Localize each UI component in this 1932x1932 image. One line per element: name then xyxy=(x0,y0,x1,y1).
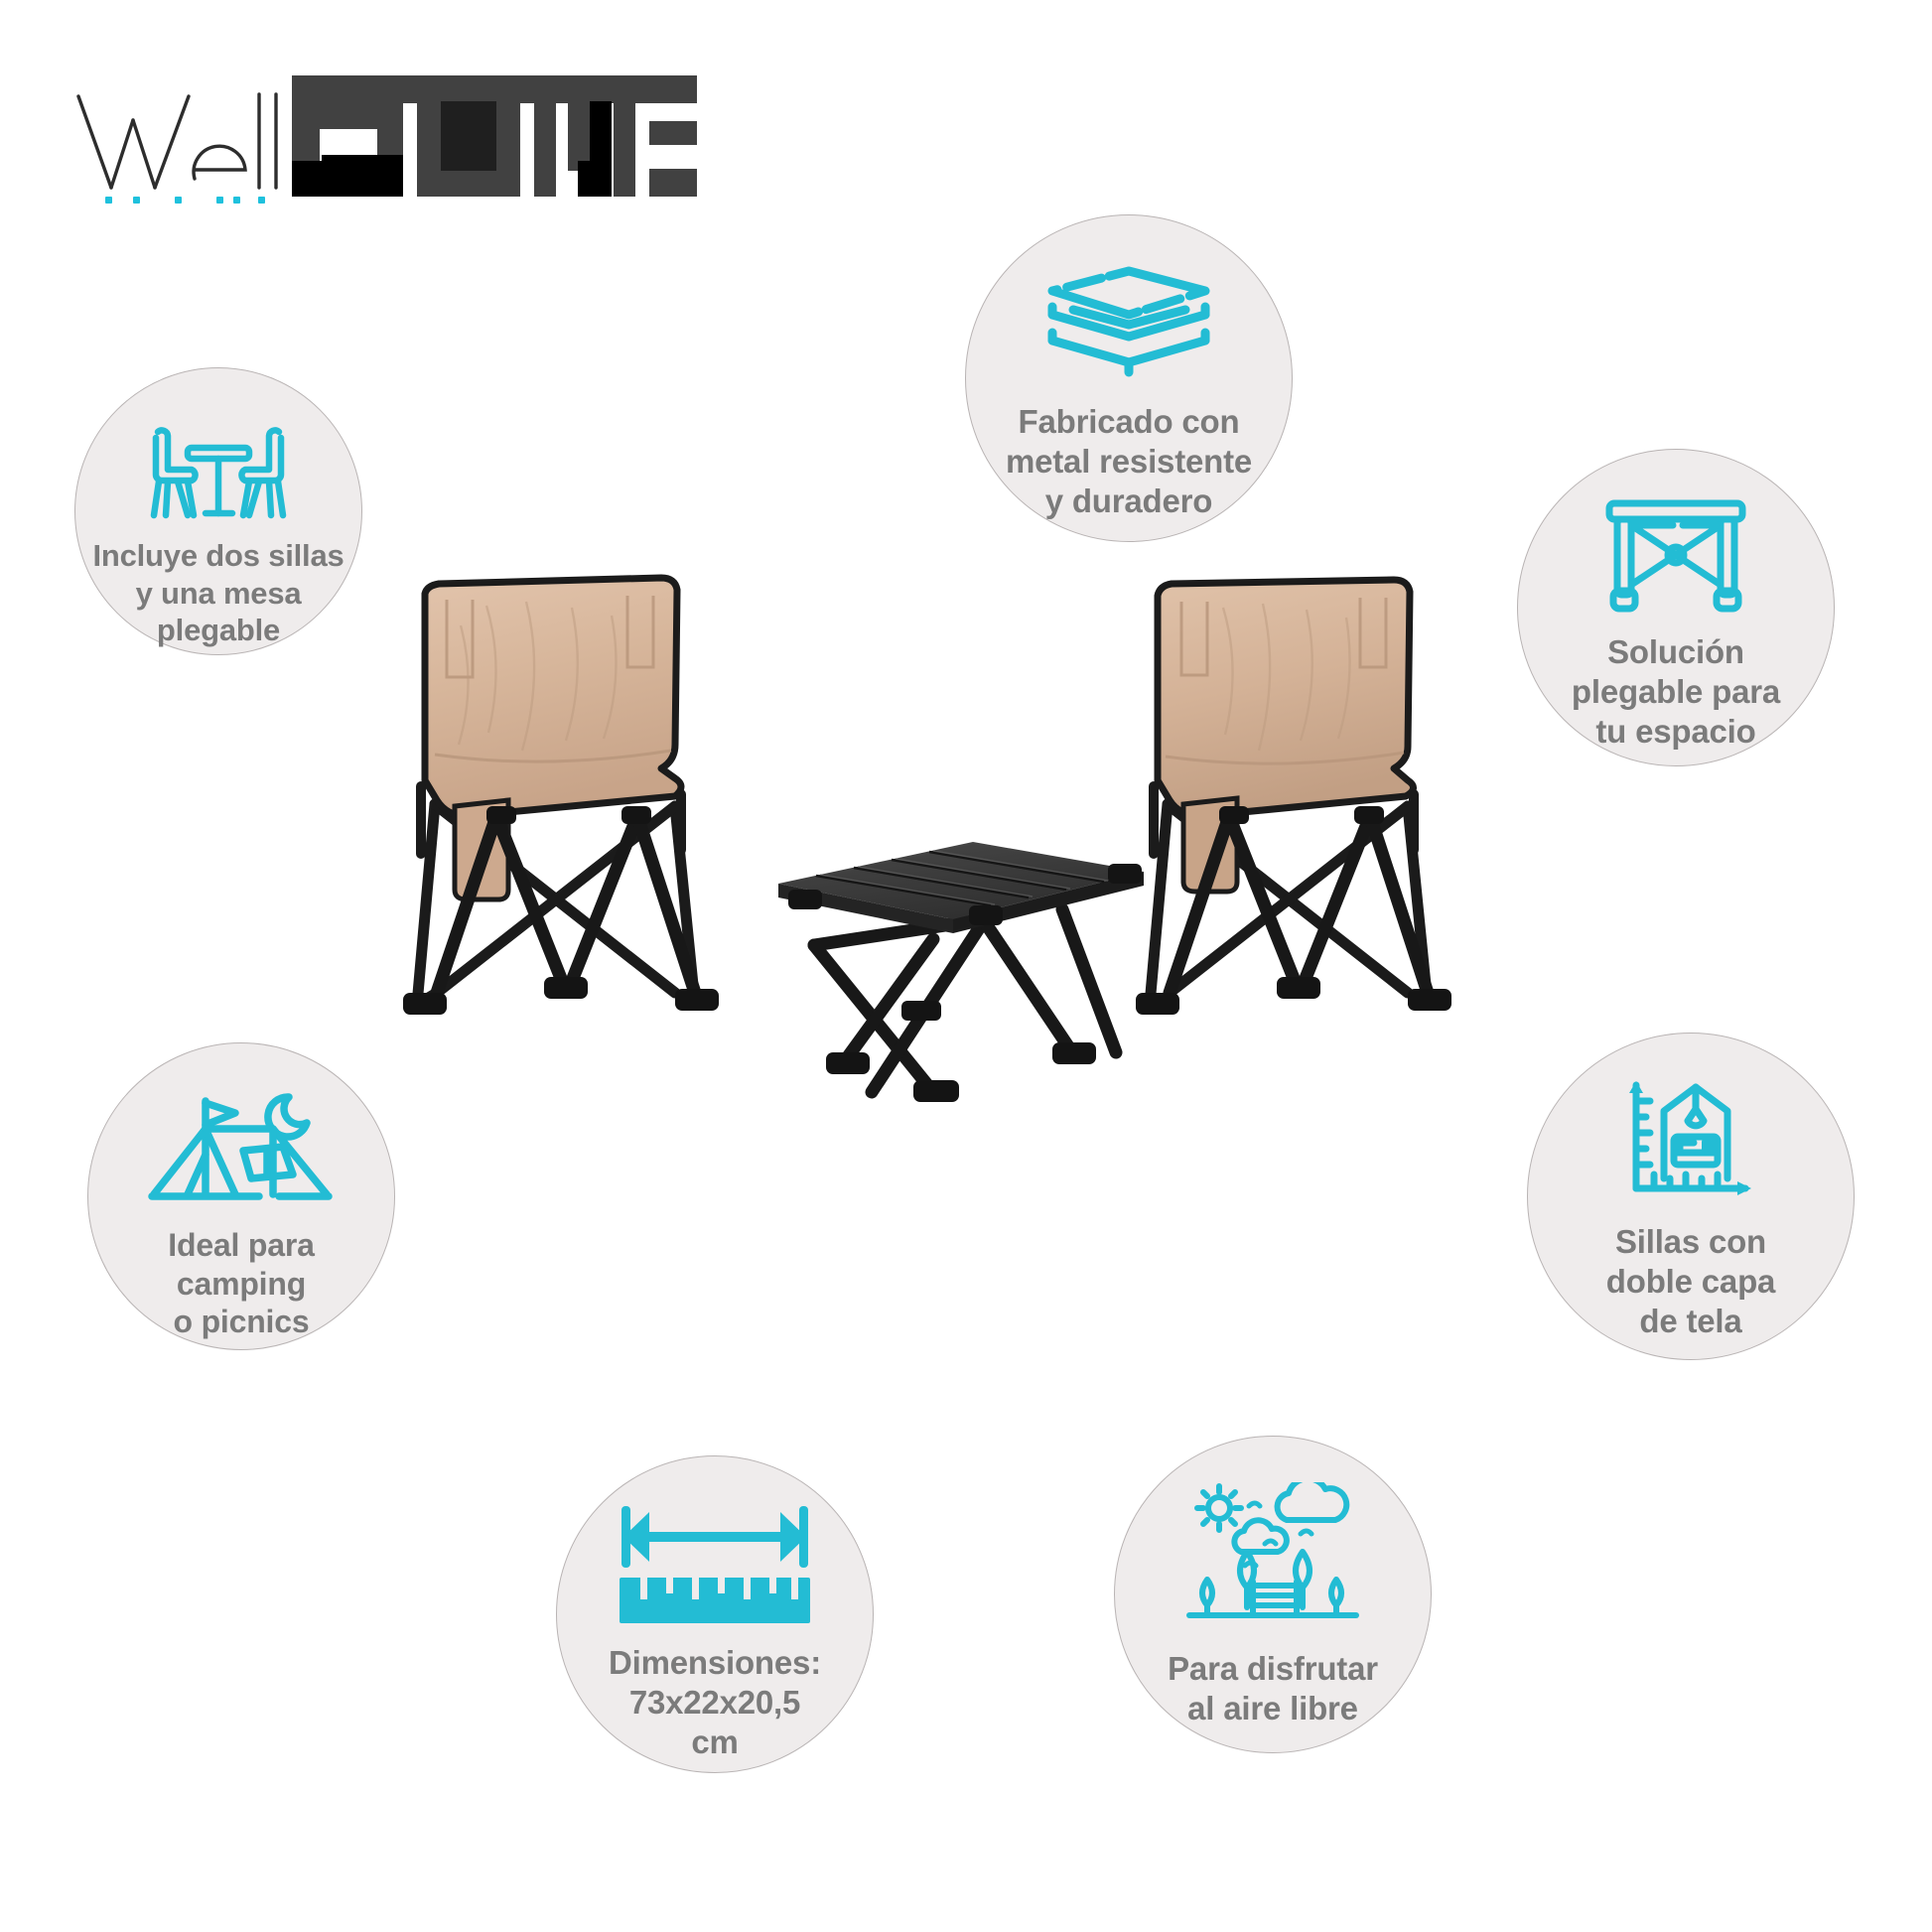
logo-well-wordmark xyxy=(78,94,276,188)
badge-ideal-camping[interactable]: Ideal para camping o picnics xyxy=(87,1042,395,1350)
layers-icon xyxy=(966,263,1292,384)
tent-moon-icon xyxy=(88,1087,394,1212)
brand-logo xyxy=(71,58,707,207)
badge-label: Para disfrutar al aire libre xyxy=(1160,1649,1386,1728)
badge-label: Dimensiones: 73x22x20,5 cm xyxy=(601,1643,829,1762)
folding-table xyxy=(778,842,1144,1102)
measure-furniture-icon xyxy=(1528,1075,1854,1200)
table-top xyxy=(778,842,1144,933)
badge-enjoy-outdoors[interactable]: Para disfrutar al aire libre xyxy=(1114,1436,1432,1753)
badge-dimensions[interactable]: Dimensiones: 73x22x20,5 cm xyxy=(556,1455,874,1773)
badge-includes-chairs-table[interactable]: Incluye dos sillas y una mesa plegable xyxy=(74,367,362,655)
chair-left xyxy=(403,578,719,1015)
product-photo xyxy=(377,556,1549,1112)
badge-durable-metal[interactable]: Fabricado con metal resistente y durader… xyxy=(965,214,1293,542)
badge-label: Ideal para camping o picnics xyxy=(160,1226,322,1341)
badge-double-layer-fabric[interactable]: Sillas con doble capa de tela xyxy=(1527,1033,1855,1360)
badge-label: Incluye dos sillas y una mesa plegable xyxy=(84,537,351,649)
logo-accent-dots xyxy=(105,197,265,204)
badge-label: Fabricado con metal resistente y durader… xyxy=(998,402,1260,521)
ruler-arrow-icon xyxy=(557,1504,873,1625)
logo-home-wordmark xyxy=(292,75,697,197)
chair-right xyxy=(1136,580,1451,1015)
badge-folding-solution[interactable]: Solución plegable para tu espacio xyxy=(1517,449,1835,766)
table-and-chairs-icon xyxy=(75,424,361,521)
folding-table-icon xyxy=(1518,495,1834,615)
badge-label: Sillas con doble capa de tela xyxy=(1598,1222,1783,1341)
park-landscape-icon xyxy=(1115,1482,1431,1631)
badge-label: Solución plegable para tu espacio xyxy=(1564,632,1788,752)
